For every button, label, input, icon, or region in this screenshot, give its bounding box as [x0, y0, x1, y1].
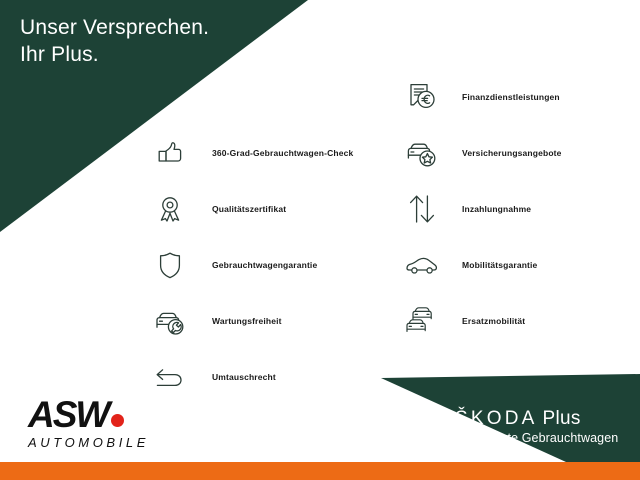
dealer-logo-wordmark: ASW	[28, 396, 198, 434]
feature-item: Gebrauchtwagengarantie	[148, 238, 353, 292]
feature-label: Ersatzmobilität	[462, 316, 525, 326]
feature-list-right: Finanzdienstleistungen Versicherungsange…	[400, 70, 562, 350]
feature-label: Gebrauchtwagengarantie	[212, 260, 317, 270]
feature-item: Finanzdienstleistungen	[400, 70, 562, 124]
up-down-arrows-icon	[400, 187, 444, 231]
car-silhouette-icon	[400, 243, 444, 287]
dealer-logo-name: ASW	[28, 396, 108, 434]
brand-program: Plus	[543, 408, 581, 429]
feature-label: Inzahlungnahme	[462, 204, 531, 214]
feature-item: Versicherungsangebote	[400, 126, 562, 180]
feature-item: Wartungsfreiheit	[148, 294, 353, 348]
feature-item: Ersatzmobilität	[400, 294, 562, 348]
brand-name: ŠKODA	[455, 408, 538, 429]
feature-item: Qualitätszertifikat	[148, 182, 353, 236]
quality-rosette-icon	[148, 187, 192, 231]
orange-bottom-bar	[0, 462, 640, 480]
brand-logo-title: ŠKODAPlus	[455, 408, 618, 430]
document-euro-icon	[400, 75, 444, 119]
dealer-logo-subtitle: AUTOMOBILE	[28, 435, 198, 450]
feature-item: Mobilitätsgarantie	[400, 238, 562, 292]
feature-item: 360-Grad-Gebrauchtwagen-Check	[148, 126, 353, 180]
shield-icon	[148, 243, 192, 287]
feature-label: Finanzdienstleistungen	[462, 92, 560, 102]
promo-banner: Unser Versprechen. Ihr Plus. 360-Grad-Ge…	[0, 0, 640, 480]
feature-item: Inzahlungnahme	[400, 182, 562, 236]
feature-label: 360-Grad-Gebrauchtwagen-Check	[212, 148, 353, 158]
car-star-icon	[400, 131, 444, 175]
feature-label: Qualitätszertifikat	[212, 204, 286, 214]
feature-label: Versicherungsangebote	[462, 148, 562, 158]
feature-label: Wartungsfreiheit	[212, 316, 282, 326]
feature-list-left: 360-Grad-Gebrauchtwagen-Check Qualitätsz…	[148, 126, 353, 406]
dealer-logo: ASW AUTOMOBILE	[28, 396, 198, 450]
brand-logo: ŠKODAPlus Zertifizierte Gebrauchtwagen	[455, 408, 618, 445]
feature-label: Mobilitätsgarantie	[462, 260, 537, 270]
two-cars-icon	[400, 299, 444, 343]
thumbs-up-icon	[148, 131, 192, 175]
car-wrench-icon	[148, 299, 192, 343]
return-arrow-icon	[148, 355, 192, 399]
feature-label: Umtauschrecht	[212, 372, 276, 382]
dealer-logo-dot	[111, 414, 124, 427]
page-title: Unser Versprechen. Ihr Plus.	[20, 14, 320, 68]
brand-tagline: Zertifizierte Gebrauchtwagen	[455, 431, 618, 445]
